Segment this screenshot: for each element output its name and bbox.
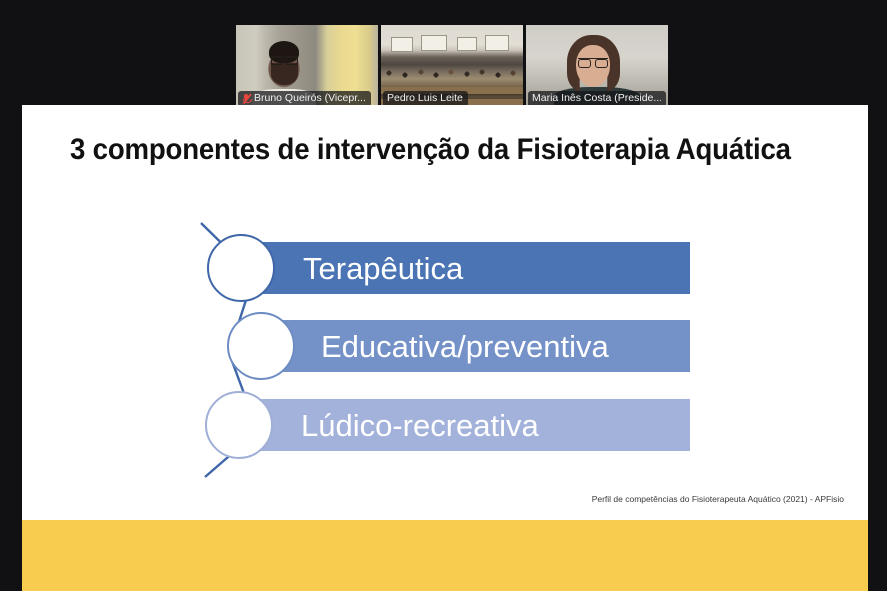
video-conference-filmstrip: Bruno Queirós (Vicepr... Pedro Luis Leit… [236, 25, 670, 109]
decor-window [391, 37, 413, 52]
decor-window [457, 37, 477, 51]
participant-name: Maria Inês Costa (Preside... [532, 92, 661, 105]
slide-accent-band [22, 520, 868, 591]
video-tile-participant-2[interactable]: Pedro Luis Leite [381, 25, 523, 109]
component-bar-3: Lúdico-recreativa [257, 399, 690, 451]
component-circle-1 [205, 232, 277, 304]
decor-audience [381, 65, 523, 87]
participant-name: Bruno Queirós (Vicepr... [254, 92, 366, 105]
decor-glasses [271, 56, 298, 64]
component-bar-1: Terapêutica [259, 242, 690, 294]
decor-window [485, 35, 509, 51]
video-tile-participant-3[interactable]: Maria Inês Costa (Preside... [526, 25, 668, 109]
component-bar-2: Educativa/preventiva [277, 320, 690, 372]
decor-window [421, 35, 447, 51]
participant-name: Pedro Luis Leite [387, 92, 463, 105]
component-label: Educativa/preventiva [321, 331, 609, 362]
decor-glasses [578, 58, 608, 67]
slide-source-citation: Perfil de competências do Fisioterapeuta… [592, 494, 844, 504]
component-label: Terapêutica [303, 253, 463, 284]
decor-beard [271, 63, 298, 85]
component-circle-3 [203, 389, 275, 461]
mic-muted-icon [242, 93, 251, 105]
component-circle-2 [225, 310, 297, 382]
video-tile-participant-1[interactable]: Bruno Queirós (Vicepr... [236, 25, 378, 109]
presentation-slide: 3 componentes de intervenção da Fisioter… [22, 105, 868, 591]
component-label: Lúdico-recreativa [301, 410, 539, 441]
slide-title: 3 componentes de intervenção da Fisioter… [70, 133, 791, 167]
